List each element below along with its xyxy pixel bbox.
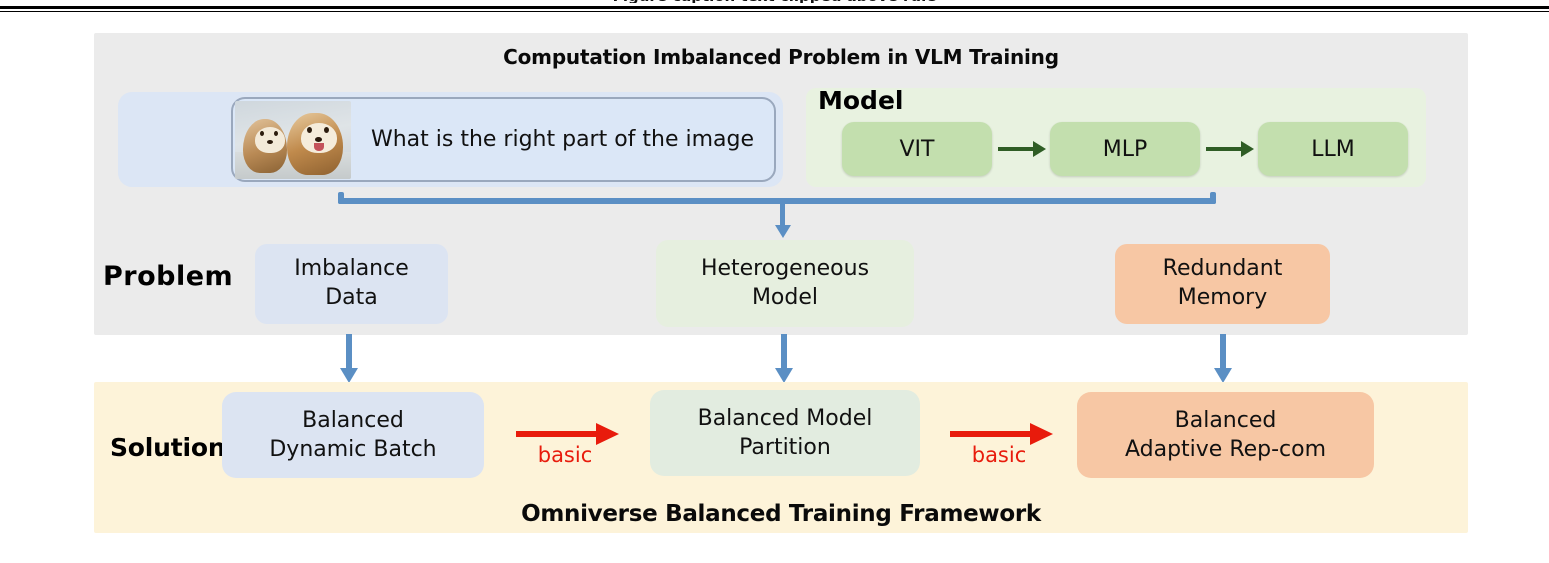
transition-arrow-1-icon: [344, 334, 354, 384]
basic-arrow-1-label: basic: [516, 443, 614, 467]
problem-box-line1: Heterogeneous: [701, 256, 869, 281]
problem-box-line2: Memory: [1178, 285, 1267, 310]
solution-box-balanced-model-partition: Balanced Model Partition: [650, 390, 920, 476]
arrow-vit-to-mlp-icon: [992, 137, 1050, 161]
problem-box-line1: Redundant: [1163, 256, 1283, 281]
solution-box-balanced-adaptive-rep-com: Balanced Adaptive Rep-com: [1077, 392, 1374, 478]
solution-box-line1: Balanced: [302, 408, 404, 433]
model-stage-llm: LLM: [1258, 122, 1408, 176]
solution-box-line1: Balanced Model: [698, 406, 873, 431]
model-stage-mlp: MLP: [1050, 122, 1200, 176]
row-label-solution: Solution: [110, 433, 225, 462]
puppy-image: [235, 101, 351, 179]
basic-arrow-1-icon: basic: [516, 418, 624, 470]
solution-box-line2: Dynamic Batch: [269, 437, 436, 462]
header-rule-thin: [0, 11, 1549, 12]
model-panel-label: Model: [818, 86, 903, 115]
arrow-mlp-to-llm-icon: [1200, 137, 1258, 161]
row-label-problem: Problem: [103, 261, 233, 292]
basic-arrow-2-label: basic: [950, 443, 1048, 467]
bracket-connector-icon: [330, 192, 1224, 204]
solution-box-line2: Adaptive Rep-com: [1125, 437, 1326, 462]
clipped-header-text: Figure caption text clipped above rule: [0, 0, 1549, 3]
figure-stage: Figure caption text clipped above rule C…: [0, 0, 1549, 563]
model-pipeline: VIT MLP LLM: [842, 122, 1408, 176]
data-question-text: What is the right part of the image: [351, 125, 774, 154]
solution-box-balanced-dynamic-batch: Balanced Dynamic Batch: [222, 392, 484, 478]
solution-box-line1: Balanced: [1175, 408, 1277, 433]
problem-box-heterogeneous-model: Heterogeneous Model: [656, 240, 914, 327]
bracket-down-arrow-icon: [779, 200, 787, 238]
problem-box-redundant-memory: Redundant Memory: [1115, 244, 1330, 324]
problem-box-line1: Imbalance: [294, 256, 409, 281]
solution-box-line2: Partition: [739, 435, 831, 460]
problem-box-imbalance-data: Imbalance Data: [255, 244, 448, 324]
problem-box-line2: Model: [752, 285, 818, 310]
panel-title: Computation Imbalanced Problem in VLM Tr…: [94, 45, 1468, 69]
transition-arrow-3-icon: [1218, 334, 1228, 384]
problem-box-line2: Data: [325, 285, 378, 310]
basic-arrow-2-icon: basic: [950, 418, 1058, 470]
header-rule: [0, 6, 1549, 9]
model-panel: Model VIT MLP LLM: [806, 88, 1426, 187]
data-panel: What is the right part of the image: [118, 92, 783, 187]
transition-arrow-2-icon: [779, 334, 789, 384]
data-sample-card: What is the right part of the image: [231, 97, 776, 182]
model-stage-vit: VIT: [842, 122, 992, 176]
panel-caption: Omniverse Balanced Training Framework: [94, 501, 1468, 527]
